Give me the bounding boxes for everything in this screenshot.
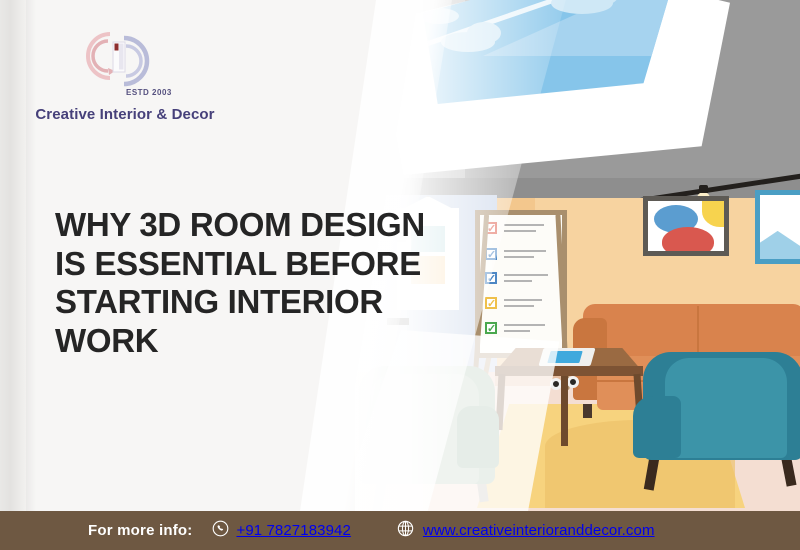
globe-icon (397, 520, 414, 542)
checklist-text-line (504, 230, 536, 232)
checklist-checkbox: ✓ (485, 272, 497, 284)
art-sky (760, 195, 800, 235)
art-shape-red (662, 227, 714, 256)
cloud (467, 22, 501, 44)
checklist-text-line (504, 280, 532, 282)
footer-label: For more info: (88, 522, 192, 539)
brand-logo[interactable]: ESTD 2003 Creative Interior & Decor (30, 22, 220, 130)
c-and-d-monogram-icon (66, 24, 174, 90)
footer-website-link[interactable]: www.creativeinterioranddecor.com (397, 520, 655, 542)
phone-circle-icon (212, 520, 229, 542)
logo-brand-name: Creative Interior & Decor (30, 106, 220, 123)
footer-website-url: www.creativeinterioranddecor.com (423, 522, 655, 539)
framed-landscape-art (755, 190, 800, 264)
page-edge-shadow (26, 0, 36, 511)
footer-phone-number: +91 7827183942 (236, 522, 350, 539)
art-hill (760, 231, 800, 259)
logo-estd-label: ESTD 2003 (126, 88, 172, 97)
checklist-text-line (504, 324, 545, 326)
checklist-text-line (504, 305, 534, 307)
checklist-checkbox: ✓ (485, 248, 497, 260)
footer-phone-link[interactable]: +91 7827183942 (212, 520, 350, 542)
blog-banner: ✓ ✓ ✓ ✓ ✓ (0, 0, 800, 550)
checklist-text-line (504, 224, 544, 226)
page-title: Why 3D Room Design Is Essential Before S… (55, 206, 455, 360)
easel-caster (567, 376, 579, 388)
framed-abstract-art (643, 196, 729, 256)
checklist-text-line (504, 256, 534, 258)
teal-armchair-cushion (665, 358, 787, 458)
art-shape-yellow (702, 201, 729, 227)
checklist-checkbox: ✓ (485, 297, 497, 309)
checklist-text-line (504, 250, 546, 252)
teal-armchair-arm (633, 396, 681, 458)
checklist-text-line (504, 330, 530, 332)
checklist-checkbox: ✓ (485, 322, 497, 334)
content-column: ESTD 2003 Creative Interior & Decor Why … (0, 0, 470, 511)
table-leg (561, 370, 568, 446)
sofa-foot (583, 404, 592, 418)
checklist-text-line (504, 299, 542, 301)
contact-footer-bar: For more info: +91 7827183942 (0, 511, 800, 550)
page-edge-strip (0, 0, 26, 511)
checklist-text-line (504, 274, 548, 276)
